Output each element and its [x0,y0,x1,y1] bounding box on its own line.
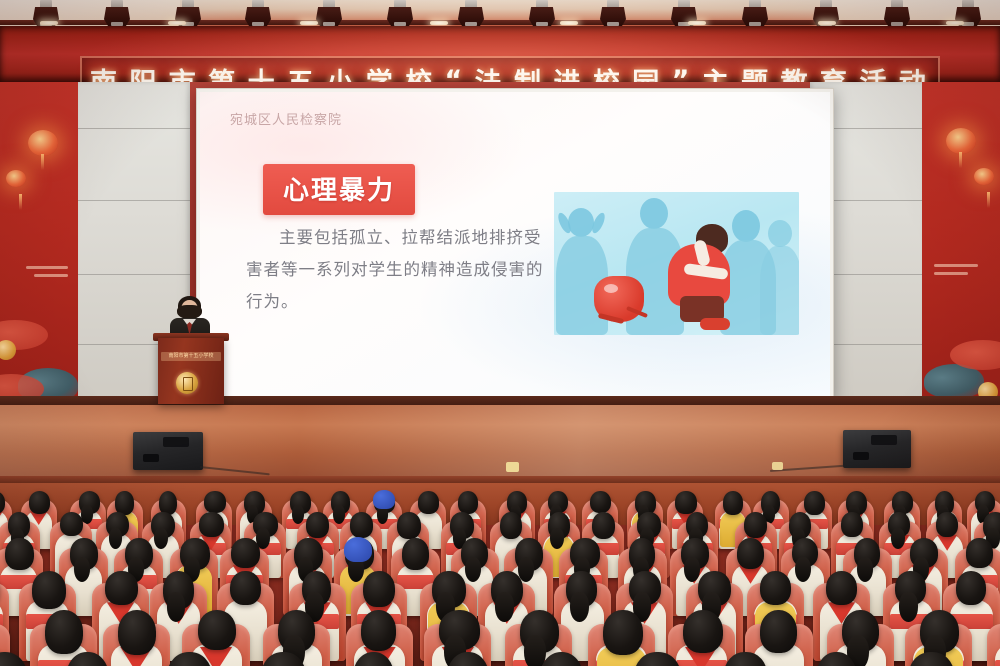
decor-banner-right [920,82,1000,400]
coin-motif [0,340,16,360]
banner-char: 教 [781,61,808,83]
student-head [744,512,767,538]
student-head [363,571,394,607]
student-ponytail [857,557,873,582]
banner-char: 题 [741,61,768,83]
auditorium-photo: 南阳市第十五小学校“法制进校园”主题教育活动 宛城区人民检察院 [0,0,1000,666]
banner-char: 阳 [129,61,156,83]
stage-monitor-left [133,432,203,470]
blue-cap [344,537,373,562]
student-head [603,610,643,655]
student-head [841,512,863,537]
student-head [760,610,797,653]
banner-title-text: 南阳市第十五小学校“法制进校园”主题教育活动 [90,57,926,82]
slide-illustration [554,192,799,335]
stage-monitor-right [843,430,911,468]
student-head [231,538,260,568]
silhouette-body [760,246,799,335]
banner-char: 南 [90,61,117,83]
student-head [458,491,478,513]
student-ponytail [570,592,589,621]
student-head [29,491,50,514]
student-head [760,571,791,605]
school-emblem-icon [176,372,198,394]
banner-char: 园 [632,61,659,83]
student-head [397,512,421,539]
banner-char: 育 [820,61,847,83]
student-head [361,610,396,651]
lantern-icon [974,168,994,185]
wave-line [34,274,68,277]
silhouette-head [768,220,792,247]
lantern-icon [28,130,58,156]
decor-banner-left [0,82,80,400]
student-head [826,571,857,605]
speaker-hair [177,305,202,319]
student-head [500,512,522,540]
ceiling-downlight [430,21,448,25]
silhouette-head [732,210,760,242]
student-head [306,512,329,538]
ceiling-downlight [946,21,964,25]
wave-line [934,272,968,275]
student-head [5,538,34,570]
blue-cap [373,490,394,509]
floor-marker [772,462,783,470]
banner-char: 市 [169,61,196,83]
student-head [590,491,611,513]
lighting-truss [0,20,1000,25]
student-ponytail [465,557,481,582]
banner-char: 学 [366,61,393,83]
student-head [956,571,986,606]
student-head [230,571,261,605]
lantern-icon [6,170,26,187]
banner-char: 法 [475,61,502,83]
student-ponytail [899,592,918,621]
projection-screen-frame: 宛城区人民检察院 心理暴力 主要包括孤立、拉帮结派地排挤受害者等一系列对学生的精… [196,88,834,400]
student-head [402,538,429,569]
student-head [204,491,226,513]
student-head [60,512,83,537]
student-ponytail [333,505,345,524]
banner-char: 制 [514,61,541,83]
slide-title-badge: 心理暴力 [263,164,415,215]
podium [158,338,224,404]
student-head [350,512,373,538]
banner-char: “ [445,65,463,83]
floor-marker [506,462,519,472]
event-banner: 南阳市第十五小学校“法制进校园”主题教育活动 [0,26,1000,82]
student-head [105,571,138,605]
student-head [737,538,764,568]
student-ponytail [891,528,905,550]
student-head [936,512,958,537]
banner-char: ” [672,65,690,83]
student-head [683,610,723,653]
student-ponytail [795,557,811,582]
student-ponytail [74,557,90,582]
banner-char: 第 [208,61,235,83]
student-ponytail [684,557,700,582]
ceiling-downlight [818,21,836,25]
audience-area [0,483,1000,666]
banner-char: 主 [702,61,729,83]
ceiling-downlight [40,21,58,25]
student-ponytail [495,592,514,621]
student-ponytail [292,505,304,524]
silhouette-head [640,198,668,229]
lantern-icon [946,128,976,154]
banner-char: 十 [248,61,275,83]
student-head [723,491,743,514]
student-head [45,610,83,654]
ceiling-downlight [168,21,186,25]
slide-title-text: 心理暴力 [283,170,395,207]
podium-nameplate: 南阳市第十五小学校 [161,352,221,361]
wave-line [934,264,978,267]
student-head [804,491,825,515]
banner-char: 校 [593,61,620,83]
banner-char: 动 [899,61,926,83]
banner-char: 校 [405,61,432,83]
backpack-highlight [604,284,618,293]
projection-screen: 宛城区人民检察院 心理暴力 主要包括孤立、拉帮结派地排挤受害者等一系列对学生的精… [200,92,830,396]
student-head [118,610,156,655]
silhouette-head [568,208,594,237]
slide-org-header: 宛城区人民检察院 [230,109,342,128]
ceiling-downlight [560,21,578,25]
student-head [966,538,993,568]
student-head [592,512,615,539]
slide-body-text: 主要包括孤立、拉帮结派地排挤受害者等一系列对学生的精神造成侵害的行为。 [246,222,546,319]
student-head [199,512,224,537]
student-head [675,491,696,514]
child-shoe [700,318,730,330]
student-head [418,491,439,513]
wave-line [26,266,68,269]
banner-char: 五 [287,61,314,83]
student-head [32,571,66,609]
student-head [198,610,236,650]
banner-char: 活 [859,61,886,83]
banner-char: 小 [326,61,353,83]
banner-char: 进 [553,61,580,83]
ceiling-downlight [688,21,706,25]
ceiling-downlight [300,21,318,25]
